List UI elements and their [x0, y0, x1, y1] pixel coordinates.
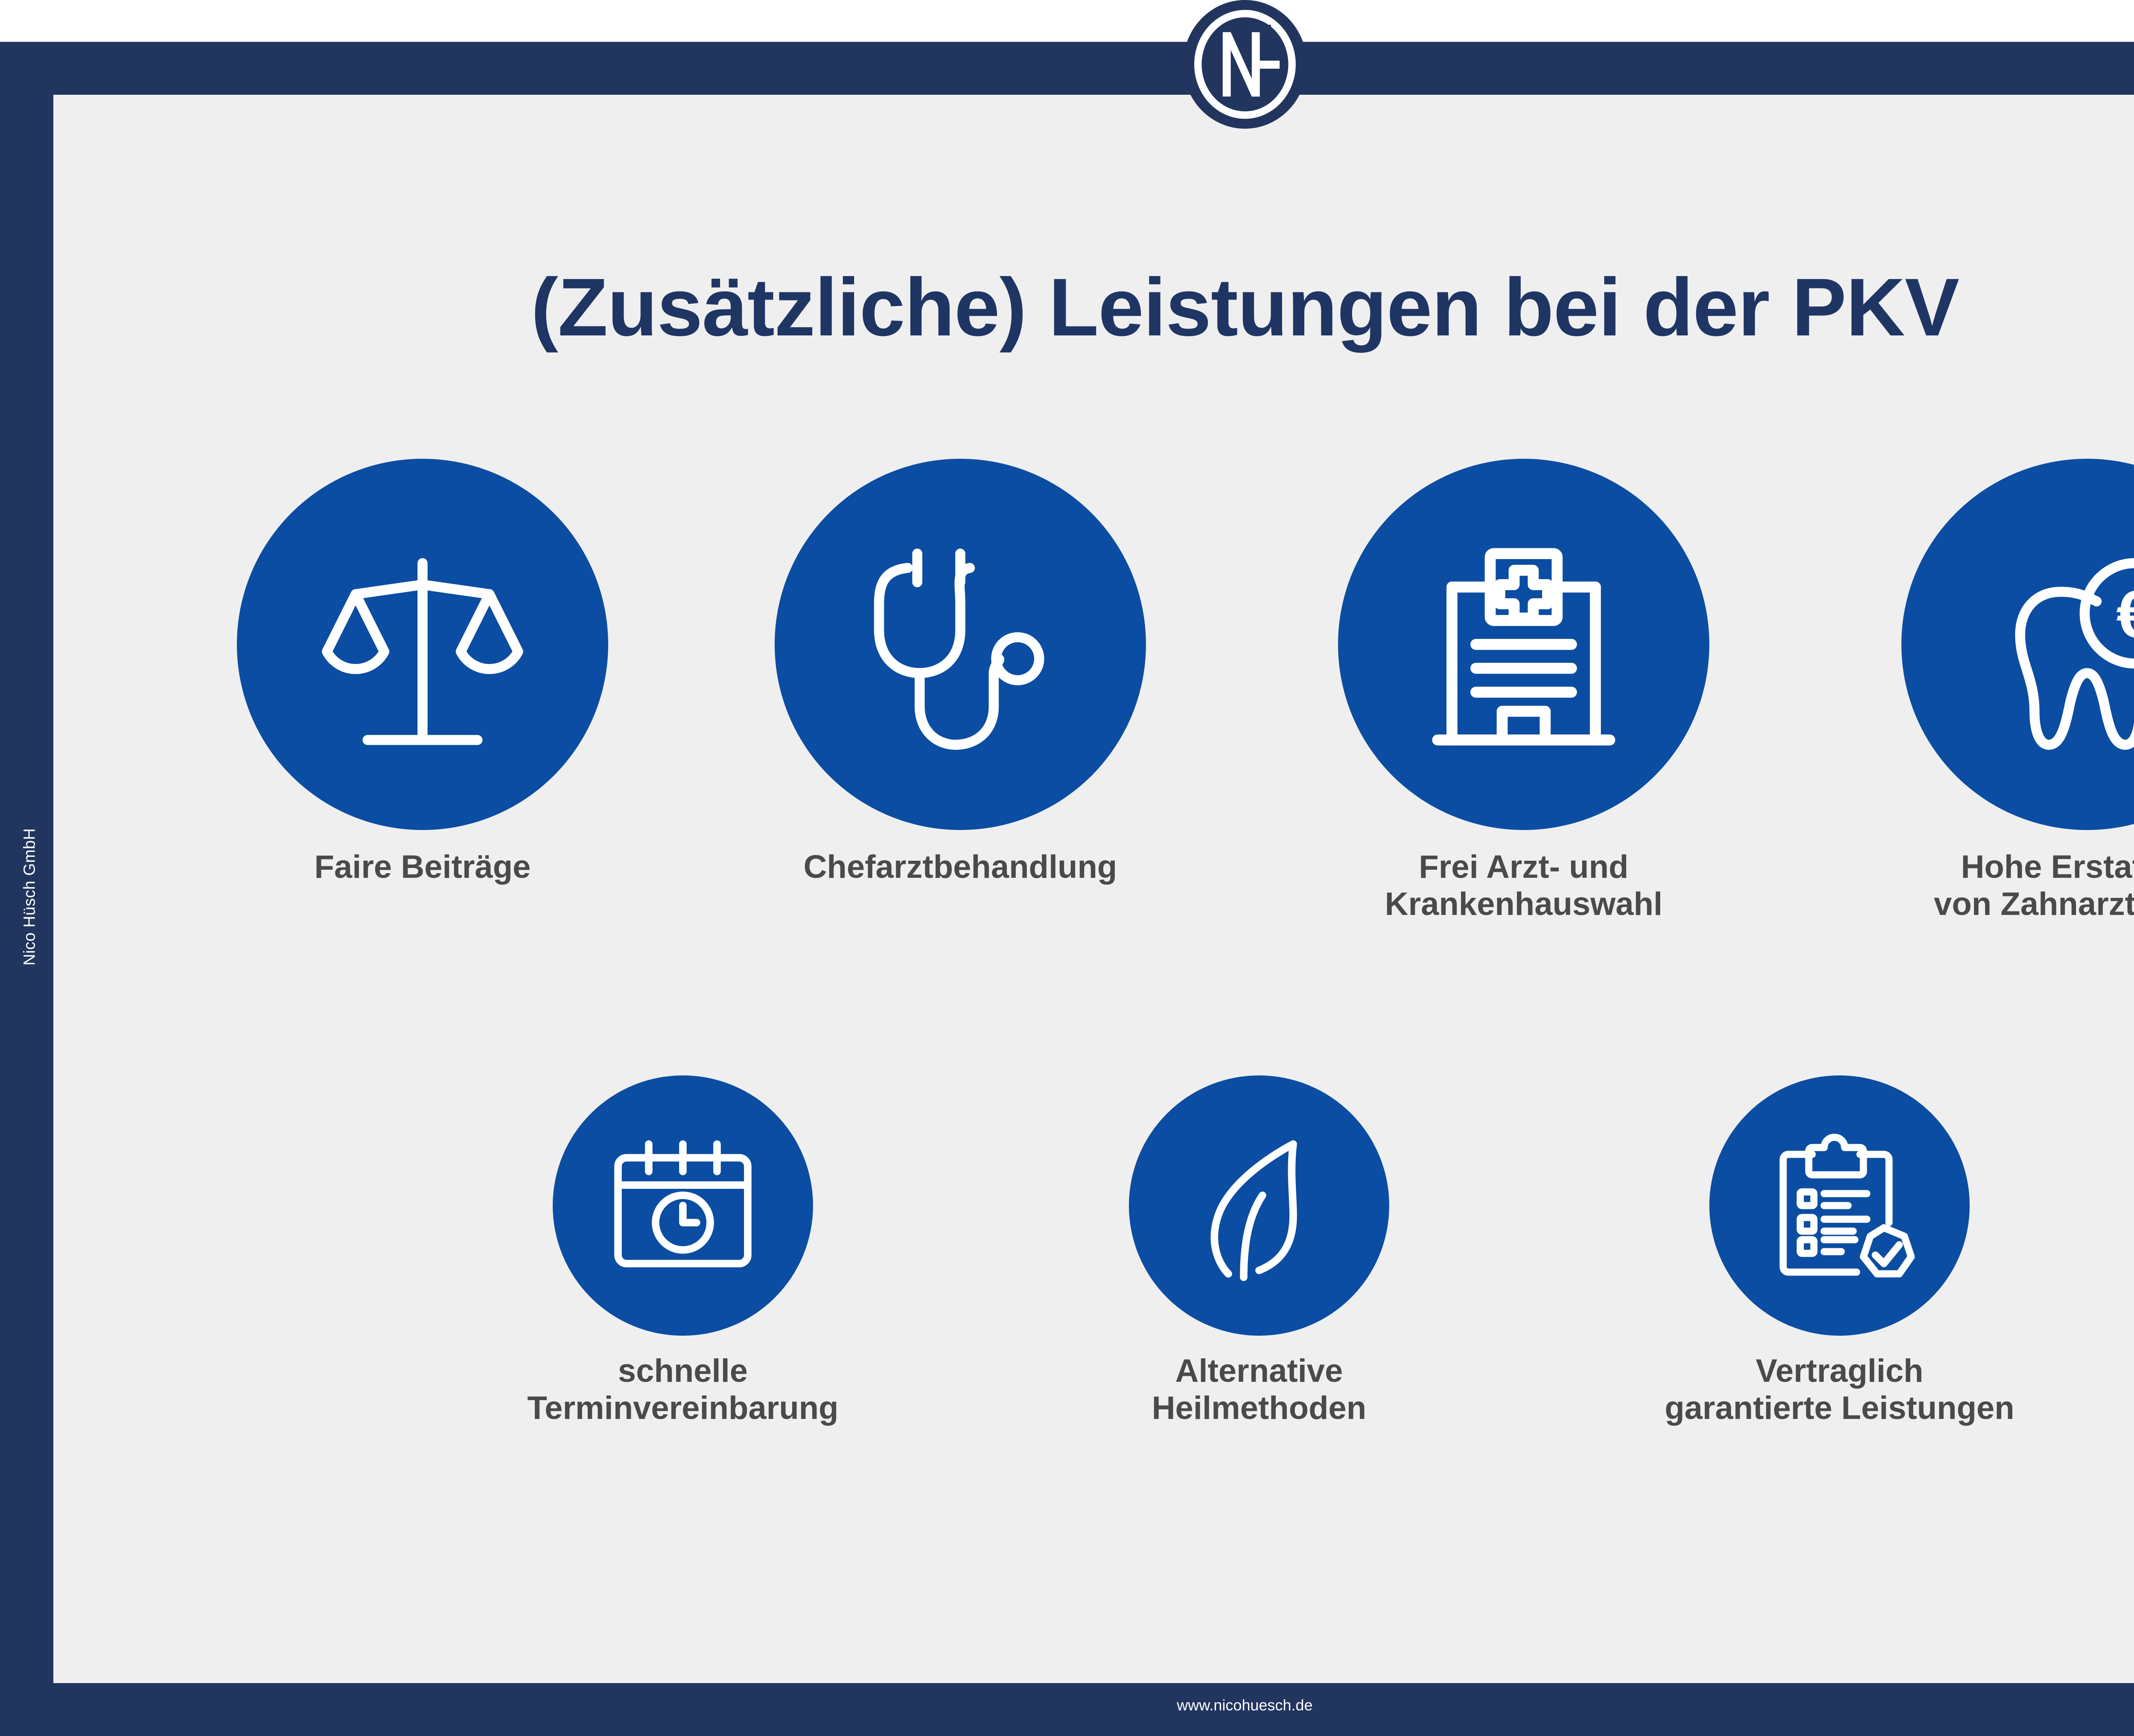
feature-garantierte-leistungen: Vertraglich garantierte Leistungen [1583, 1075, 2096, 1427]
feature-label: Chefarztbehandlung [704, 849, 1216, 886]
icon-circle [1338, 459, 1709, 830]
icon-circle [775, 459, 1146, 830]
feature-faire-beitraege: Faire Beiträge [166, 459, 679, 886]
feature-chefarztbehandlung: Chefarztbehandlung [704, 459, 1216, 886]
leaf-icon [1174, 1120, 1344, 1291]
icon-circle: € [1901, 459, 2134, 830]
feature-label: schnelle Terminvereinbarung [427, 1353, 939, 1427]
hospital-building-icon [1404, 525, 1643, 764]
feature-zahnarztkosten: € Hohe Erstattung von Zahnarztkosten [1831, 459, 2134, 923]
nh-logo [1183, 0, 1307, 128]
feature-label: Vertraglich garantierte Leistungen [1583, 1353, 2096, 1427]
stethoscope-icon [841, 525, 1080, 764]
clipboard-check-icon [1754, 1120, 1925, 1291]
tooth-euro-icon: € [1968, 525, 2134, 764]
feature-terminvereinbarung: schnelle Terminvereinbarung [427, 1075, 939, 1427]
icon-circle [1129, 1075, 1389, 1336]
calendar-clock-icon [598, 1120, 768, 1291]
feature-freie-arztwahl: Frei Arzt- und Krankenhauswahl [1268, 459, 1780, 923]
page-title: (Zusätzliche) Leistungen bei der PKV [53, 264, 2134, 350]
footer-website-url[interactable]: www.nicohuesch.de [0, 1696, 2134, 1714]
feature-label: Faire Beiträge [166, 849, 679, 886]
feature-label: Alternative Heilmethoden [1003, 1353, 1515, 1427]
feature-alternative-heilmethoden: Alternative Heilmethoden [1003, 1075, 1515, 1427]
icon-circle [1709, 1075, 1970, 1336]
side-label-left: Nico Hüsch GmbH [21, 748, 39, 1046]
icon-circle [237, 459, 608, 830]
icon-circle [553, 1075, 813, 1336]
scales-balance-icon [303, 525, 542, 764]
feature-label: Hohe Erstattung von Zahnarztkosten [1831, 849, 2134, 923]
feature-label: Frei Arzt- und Krankenhauswahl [1268, 849, 1780, 923]
infographic-poster: Nico Hüsch GmbH Echte Anlageberatung www… [0, 0, 2134, 1736]
svg-text:€: € [2116, 577, 2134, 652]
